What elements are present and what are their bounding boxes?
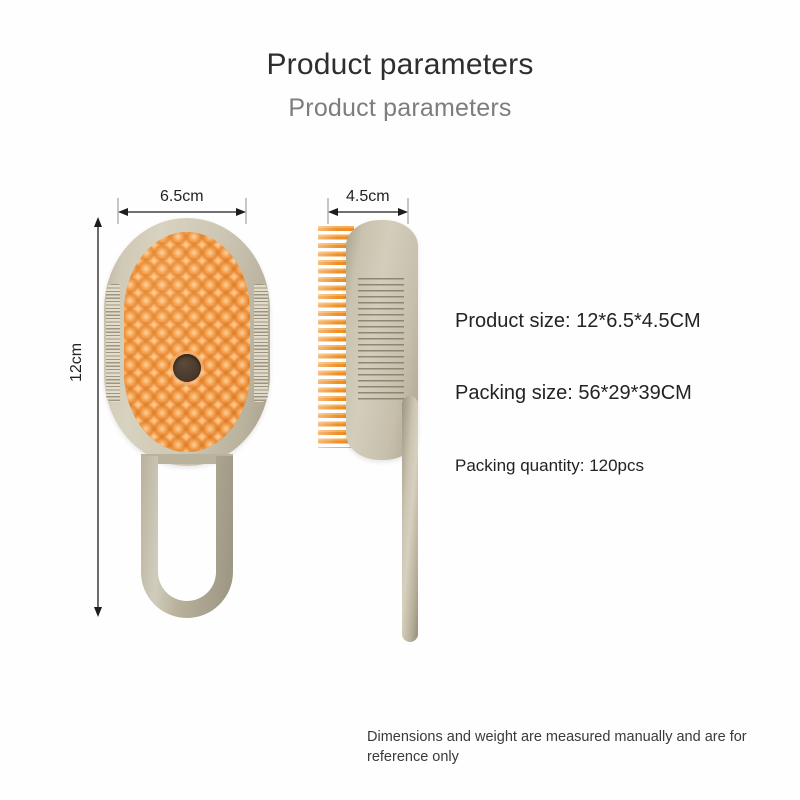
product-side-view xyxy=(318,220,448,620)
center-nozzle-hole xyxy=(173,354,201,382)
spec-packing-quantity: Packing quantity: 120pcs xyxy=(455,456,644,476)
silicone-bump-pad xyxy=(124,232,250,452)
dimension-label-front-width: 6.5cm xyxy=(160,188,204,206)
loop-handle xyxy=(141,458,233,618)
arrow-product-height xyxy=(94,217,102,617)
body-rib-texture xyxy=(358,278,404,404)
product-parameters-page: Product parameters Product parameters 6.… xyxy=(0,0,800,800)
brush-head-frame xyxy=(104,218,270,466)
comb-teeth-right-icon xyxy=(254,284,268,402)
dimension-label-height: 12cm xyxy=(68,343,86,382)
loop-handle-side xyxy=(402,396,418,642)
measurement-disclaimer: Dimensions and weight are measured manua… xyxy=(367,727,787,767)
spec-packing-size: Packing size: 56*29*39CM xyxy=(455,382,692,405)
dimension-label-side-width: 4.5cm xyxy=(346,188,390,206)
comb-teeth-left-icon xyxy=(106,284,120,402)
spec-product-size: Product size: 12*6.5*4.5CM xyxy=(455,310,701,333)
product-front-view xyxy=(104,218,270,618)
